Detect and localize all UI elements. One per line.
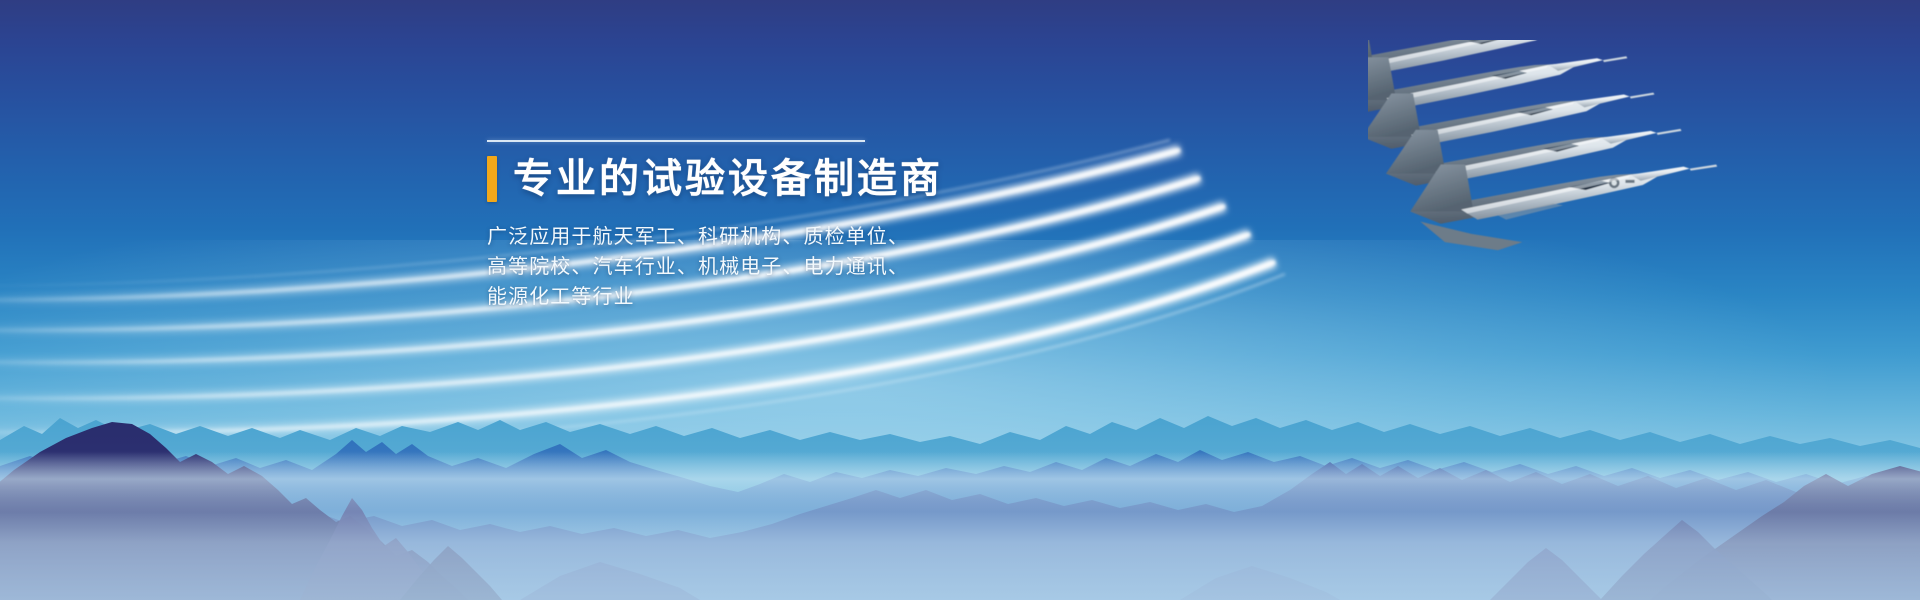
fighter-jet-icon — [1368, 40, 1920, 330]
headline-row: 专业的试验设备制造商 — [487, 156, 1187, 202]
headline-rule — [487, 140, 865, 142]
subtitle-line-1: 广泛应用于航天军工、科研机构、质检单位、 — [487, 222, 839, 252]
accent-bar — [487, 156, 497, 202]
hero-copy: 专业的试验设备制造商 广泛应用于航天军工、科研机构、质检单位、 高等院校、汽车行… — [487, 140, 1187, 312]
page-title: 专业的试验设备制造商 — [513, 156, 943, 202]
hero-subtitle: 广泛应用于航天军工、科研机构、质检单位、 高等院校、汽车行业、机械电子、电力通讯… — [487, 222, 839, 312]
hero-banner: 专业的试验设备制造商 广泛应用于航天军工、科研机构、质检单位、 高等院校、汽车行… — [0, 0, 1920, 600]
mountain-range-icon — [0, 370, 1920, 600]
subtitle-line-2: 高等院校、汽车行业、机械电子、电力通讯、 — [487, 252, 839, 282]
subtitle-line-3: 能源化工等行业 — [487, 282, 839, 312]
